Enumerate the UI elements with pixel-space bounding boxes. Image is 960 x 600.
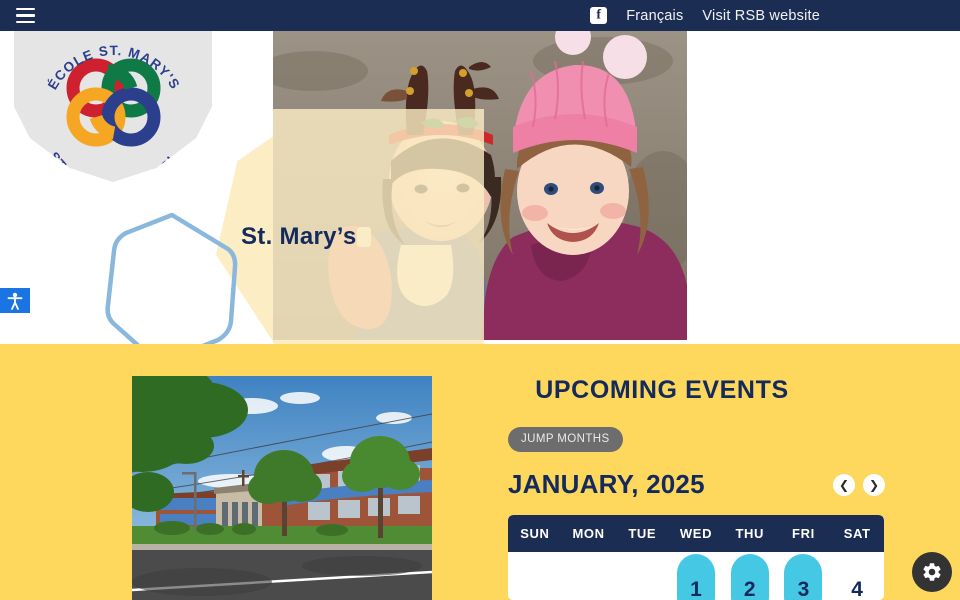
hero-title: St. Mary’s	[241, 223, 357, 251]
hamburger-bar	[16, 21, 35, 24]
visit-rsb-website-link[interactable]: Visit RSB website	[702, 8, 820, 24]
calendar-day-header-sun: SUN	[508, 515, 562, 552]
calendar-week-row: 1 2 3 4	[508, 552, 884, 600]
topbar-links: Français Visit RSB website	[590, 7, 960, 24]
calendar-day-cell[interactable]: 4	[830, 552, 884, 600]
calendar-day-number: 4	[851, 579, 863, 600]
jump-months-button[interactable]: JUMP MONTHS	[508, 427, 623, 452]
calendar-day-header-thu: THU	[723, 515, 777, 552]
calendar-day-cell-with-event[interactable]: 2	[723, 552, 777, 600]
svg-text:ST. MARY'S SCHOOL: ST. MARY'S SCHOOL	[46, 149, 182, 182]
month-navigation-row: JANUARY, 2025 ❮ ❯	[508, 469, 888, 500]
top-navigation-bar: Français Visit RSB website	[0, 0, 960, 31]
calendar-day-cell-with-event[interactable]: 1	[669, 552, 723, 600]
page-title: UPCOMING EVENTS	[508, 376, 816, 405]
facebook-icon[interactable]	[590, 7, 607, 24]
calendar-day-cell[interactable]	[508, 552, 562, 600]
hexagon-outline-decoration	[104, 209, 244, 344]
calendar-day-header-fri: FRI	[777, 515, 831, 552]
calendar-day-number: 2	[744, 579, 756, 600]
calendar-day-number: 1	[690, 579, 702, 600]
calendar-day-header-mon: MON	[562, 515, 616, 552]
language-french-link[interactable]: Français	[626, 8, 683, 24]
calendar-day-number: 3	[798, 579, 810, 600]
calendar-day-header-sat: SAT	[830, 515, 884, 552]
calendar-day-header-wed: WED	[669, 515, 723, 552]
school-logo[interactable]: ÉCOLE ST. MARY'S ST. MARY'S SCHOOL	[14, 31, 212, 182]
calendar-day-header-tue: TUE	[615, 515, 669, 552]
events-column: UPCOMING EVENTS JUMP MONTHS JANUARY, 202…	[508, 376, 888, 600]
calendar-day-cell[interactable]	[615, 552, 669, 600]
calendar-day-cell[interactable]	[562, 552, 616, 600]
gear-icon[interactable]	[912, 552, 952, 592]
hamburger-bar	[16, 14, 35, 17]
calendar-day-cell-with-event[interactable]: 3	[777, 552, 831, 600]
month-nav-buttons: ❮ ❯	[833, 474, 888, 496]
hamburger-bar	[16, 8, 35, 11]
hero-section: ÉCOLE ST. MARY'S ST. MARY'S SCHOOL St. M…	[0, 31, 960, 344]
upcoming-events-section: UPCOMING EVENTS JUMP MONTHS JANUARY, 202…	[0, 344, 960, 600]
hamburger-menu-icon[interactable]	[10, 0, 40, 31]
events-calendar: SUN MON TUE WED THU FRI SAT 1 2 3 4	[508, 515, 884, 600]
accessibility-icon[interactable]	[0, 288, 30, 313]
chevron-left-icon[interactable]: ❮	[833, 474, 855, 496]
school-building-photo	[132, 376, 432, 600]
calendar-day-headers: SUN MON TUE WED THU FRI SAT	[508, 515, 884, 552]
hero-photo	[273, 31, 687, 340]
chevron-right-icon[interactable]: ❯	[863, 474, 885, 496]
current-month-label: JANUARY, 2025	[508, 469, 705, 500]
